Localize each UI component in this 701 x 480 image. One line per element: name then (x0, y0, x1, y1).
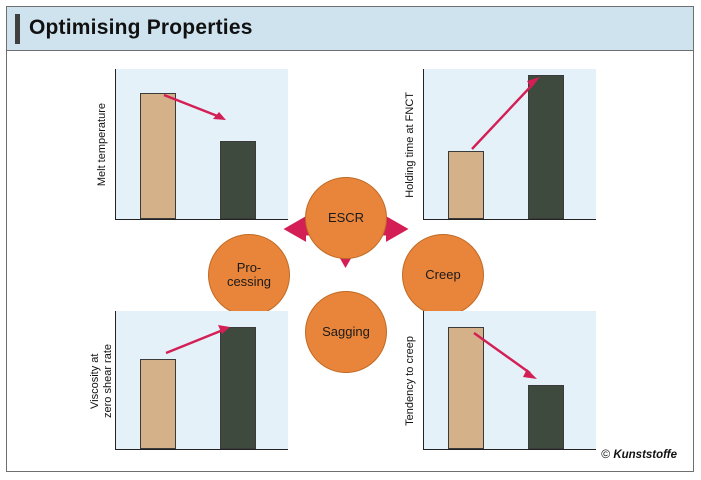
bar-before (140, 93, 176, 219)
diagram-canvas: ESCR Pro- cessing Creep Sagging Melt tem… (7, 51, 693, 471)
bar-after (528, 75, 564, 219)
node-sagging[interactable]: Sagging (305, 291, 387, 373)
credit-name: Kunststoffe (613, 449, 677, 461)
panel-melt-temperature-axis: Melt temperature (89, 69, 115, 221)
panel-tendency-to-creep-plot (423, 311, 596, 450)
panel-viscosity-axis: Viscosity at zero shear rate (89, 311, 115, 451)
node-sagging-label: Sagging (322, 325, 370, 339)
title-accent-bar (15, 14, 20, 44)
credit: © Kunststoffe (601, 447, 677, 461)
panel-tendency-to-creep: Tendency to creep (397, 311, 597, 451)
bar-after (220, 327, 256, 449)
bar-before (448, 151, 484, 219)
node-escr-label: ESCR (328, 211, 364, 225)
title-bar: Optimising Properties (7, 7, 693, 51)
bar-after (528, 385, 564, 449)
bar-after (220, 141, 256, 219)
panel-viscosity: Viscosity at zero shear rate (89, 311, 289, 451)
node-processing-label: Pro- cessing (227, 261, 271, 289)
panel-holding-time-plot (423, 69, 596, 220)
panel-tendency-to-creep-axis: Tendency to creep (397, 311, 423, 451)
panel-holding-time: Holding time at FNCT (397, 69, 597, 221)
node-processing[interactable]: Pro- cessing (208, 234, 290, 316)
node-creep[interactable]: Creep (402, 234, 484, 316)
node-escr[interactable]: ESCR (305, 177, 387, 259)
node-creep-label: Creep (425, 268, 460, 282)
panel-holding-time-axis: Holding time at FNCT (397, 69, 423, 221)
panel-melt-temperature-plot (115, 69, 288, 220)
bar-before (140, 359, 176, 449)
copyright-icon: © (601, 447, 610, 461)
panel-melt-temperature: Melt temperature (89, 69, 289, 221)
figure-container: Optimising Properties ESCR Pro- cessing … (6, 6, 694, 472)
bar-before (448, 327, 484, 449)
panel-viscosity-plot (115, 311, 288, 450)
page-title: Optimising Properties (29, 16, 253, 40)
